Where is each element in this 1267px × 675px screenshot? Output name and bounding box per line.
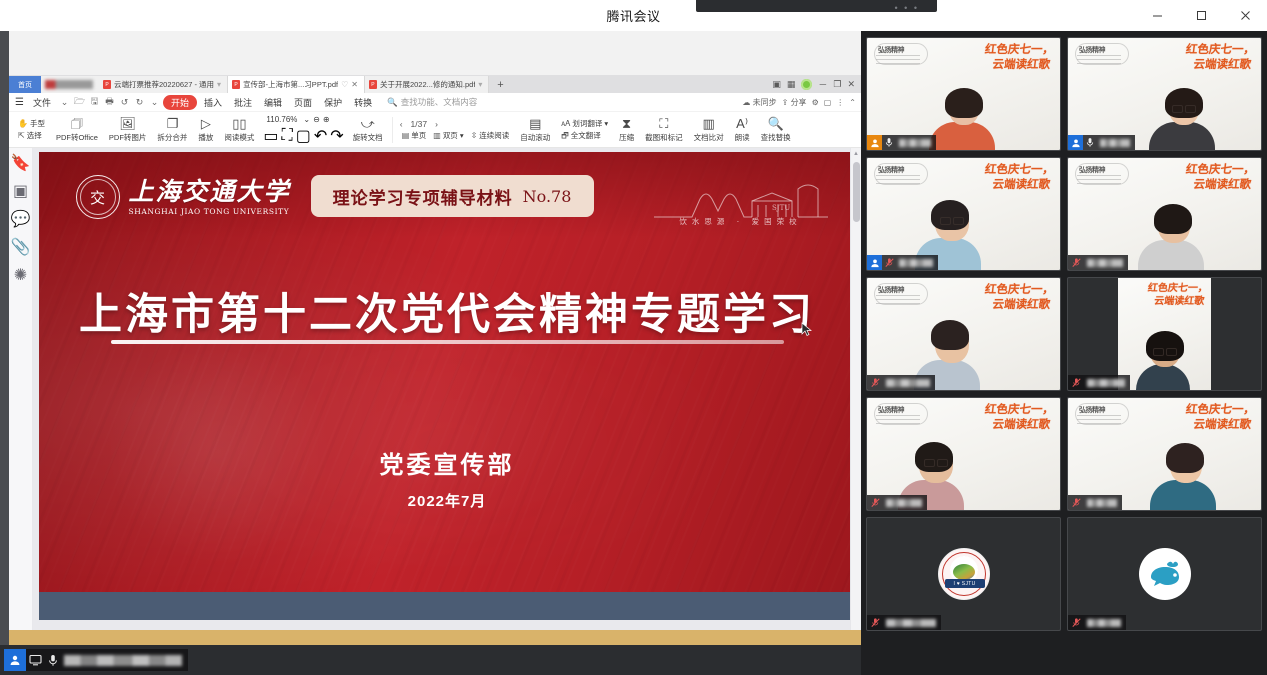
minimize-icon[interactable]	[1135, 0, 1179, 31]
tab-dot-icon: ▾	[217, 80, 221, 89]
window-icon[interactable]: ▢	[824, 98, 832, 107]
participant-video	[1150, 446, 1222, 510]
tab-strip: 首页 P 云端打票推荐20220627 - 通用 ▾ P 宣传部-上海市第...…	[9, 75, 861, 93]
play-icon: ▷	[201, 117, 211, 131]
page-area[interactable]: 上海交通大学 SHANGHAI JIAO TONG UNIVERSITY 理论学…	[33, 148, 861, 641]
more-vertical-icon[interactable]: ⋮	[836, 98, 844, 107]
participant-tile[interactable]: 弘扬精神 红色庆七一，云端读红歌	[866, 277, 1061, 391]
chevron-up-icon[interactable]: ⌃	[849, 98, 856, 107]
whale-avatar	[1139, 548, 1191, 600]
menu-tab-annotate[interactable]: 批注	[229, 95, 257, 110]
participant-tile[interactable]	[1067, 517, 1262, 631]
double-page-button[interactable]: ▥双页▾	[431, 130, 465, 141]
taskbar-edge	[0, 630, 9, 645]
chevron-down-icon[interactable]: ⌄	[58, 96, 71, 109]
fit-controls: ▭ ⛶ ▢ ↶ ↷	[263, 126, 343, 146]
ribbon-group-pages: ‹ 1/37 › ▤单页 ▥双页▾ ⇳连续阅读	[397, 119, 515, 141]
poster-stamp: 弘扬精神	[872, 402, 930, 428]
participant-name-bar	[1068, 135, 1135, 150]
next-page-button[interactable]: ›	[435, 119, 438, 129]
tab-home[interactable]: 首页	[9, 76, 41, 93]
participant-name	[1087, 379, 1125, 387]
pdf-close-icon[interactable]: ✕	[847, 79, 855, 90]
rotate-doc-icon: ⤻	[361, 117, 375, 131]
menu-icon[interactable]: ☰	[13, 97, 26, 108]
background-calligraphy: 红色庆七一，云端读红歌	[1145, 282, 1208, 308]
zoom-out-icon[interactable]: ⊖	[313, 115, 320, 124]
background-calligraphy: 红色庆七一，云端读红歌	[982, 162, 1055, 192]
participant-tile[interactable]: I ♥ SJTU	[866, 517, 1061, 631]
notch-dots: • • •	[895, 3, 919, 13]
participant-tile[interactable]: 弘扬精神 红色庆七一，云端读红歌	[1067, 397, 1262, 511]
poster-stamp: 弘扬精神	[1073, 162, 1131, 188]
read-mode-button[interactable]: ▯▯阅读模式	[219, 117, 259, 143]
participant-tile[interactable]: 红色庆七一，云端读红歌	[1067, 277, 1262, 391]
pdf-to-image-icon: 🖼	[119, 117, 136, 131]
participant-video	[1138, 207, 1210, 270]
hand-tool-button[interactable]: ✋手型	[16, 118, 47, 129]
participant-name	[886, 379, 930, 387]
ribbon-group-translate: 🗚划词翻译▾ 🗗全文翻译	[556, 118, 613, 141]
print-icon[interactable]: 🖶	[103, 96, 116, 109]
participant-name	[886, 499, 922, 507]
sjtu-seal-icon	[76, 175, 120, 219]
single-page-icon: ▤	[402, 130, 410, 141]
poster-stamp: 弘扬精神	[872, 282, 930, 308]
thumbnail-icon[interactable]: ▣	[14, 184, 28, 198]
participant-name	[1087, 259, 1123, 267]
participant-name-bar	[867, 615, 941, 630]
pdf-page-slide: 上海交通大学 SHANGHAI JIAO TONG UNIVERSITY 理论学…	[39, 152, 856, 620]
find-replace-button[interactable]: 🔍查找替换	[756, 117, 796, 143]
participant-tile[interactable]: 弘扬精神 红色庆七一，云端读红歌	[866, 157, 1061, 271]
page-layout-controls: ▤单页 ▥双页▾ ⇳连续阅读	[400, 130, 512, 141]
phrase-translate-button[interactable]: 🗚划词翻译▾	[559, 118, 610, 129]
ribbon-separator	[392, 117, 393, 143]
participant-name-bar	[1068, 495, 1122, 510]
menu-tab-protect[interactable]: 保护	[319, 95, 347, 110]
chevron-down-icon[interactable]: ▾	[604, 118, 608, 129]
self-name-bar	[4, 649, 188, 671]
mic-on-icon	[1083, 135, 1097, 150]
pdf-file-icon: P	[103, 80, 111, 89]
ribbon-group-zoom: 110.76% ⌄ ⊖ ⊕ ▭ ⛶ ▢ ↶ ↷	[260, 114, 346, 146]
participant-name-bar	[867, 135, 936, 150]
hand-icon: ✋	[18, 118, 28, 129]
compare-button[interactable]: ▥文档比对	[689, 117, 729, 143]
poster-stamp: 弘扬精神	[872, 42, 930, 68]
pdf-to-office-button[interactable]: 🗇PDF转Office	[51, 117, 103, 143]
play-button[interactable]: ▷播放	[193, 117, 218, 143]
menu-right-group: ☁ 未同步 ⇪ 分享 ⚙ ▢ ⋮ ⌃	[742, 97, 861, 108]
screen-share-icon	[26, 649, 44, 671]
participant-name-bar	[867, 255, 938, 270]
menu-tab-start[interactable]: 开始	[163, 95, 197, 110]
attachment-icon[interactable]: 📎	[14, 240, 28, 254]
mic-muted-icon	[882, 255, 896, 270]
svg-text:SJTU: SJTU	[772, 204, 790, 212]
mic-muted-icon	[867, 615, 883, 630]
participant-tile[interactable]: 弘扬精神 红色庆七一，云端读红歌	[1067, 37, 1262, 151]
pdf-minimize-icon[interactable]: －	[818, 78, 827, 91]
menu-tab-insert[interactable]: 插入	[199, 95, 227, 110]
participant-name-bar	[867, 495, 927, 510]
comment-icon[interactable]: 💬	[14, 212, 28, 226]
participant-name-bar	[1068, 375, 1130, 390]
participant-tile[interactable]: 弘扬精神 红色庆七一，云端读红歌	[866, 37, 1061, 151]
settings-icon[interactable]: ⚙	[812, 98, 819, 107]
bookmark-icon[interactable]: 🔖	[14, 156, 28, 170]
tab-pin-icon[interactable]: ♡	[341, 80, 348, 89]
tab-doc-3[interactable]: P 关于开展2022...修的通知.pdf ▾	[365, 76, 489, 93]
slide-subtitle: 党委宣传部	[39, 445, 856, 480]
slide-footer-bar	[39, 592, 856, 620]
crop-mark-button[interactable]: ⛶截图和标记	[640, 117, 688, 143]
pdf-reader-window: 首页 P 云端打票推荐20220627 - 通用 ▾ P 宣传部-上海市第...…	[9, 75, 861, 645]
rotate-right-icon[interactable]: ↷	[330, 126, 343, 146]
participant-name	[1087, 619, 1121, 627]
scrollbar-thumb[interactable]	[853, 162, 860, 222]
app-title: 腾讯会议	[606, 6, 660, 25]
double-page-icon: ▥	[433, 130, 441, 141]
search-input[interactable]: 🔍 查找功能、文档内容	[387, 96, 477, 108]
participant-name	[1087, 499, 1117, 507]
read-mode-icon: ▯▯	[232, 117, 246, 131]
tab-dot-icon: ▾	[478, 80, 482, 89]
maximize-icon[interactable]	[1179, 0, 1223, 31]
undo-icon[interactable]: ↺	[118, 96, 131, 109]
host-icon	[4, 649, 26, 671]
open-icon[interactable]: 🗁	[73, 96, 86, 109]
scroll-up-icon[interactable]: ▲	[851, 148, 861, 159]
poster-stamp: 弘扬精神	[1073, 42, 1131, 68]
avatar-ribbon-text: I ♥ SJTU	[945, 579, 985, 588]
campus-skyline-graphic: SJTU	[652, 177, 830, 221]
prev-page-button[interactable]: ‹	[400, 119, 403, 129]
fit-page-icon[interactable]: ⛶	[282, 127, 293, 145]
green-status-icon[interactable]	[801, 79, 812, 90]
mouse-cursor-icon	[801, 322, 812, 337]
close-icon[interactable]	[1223, 0, 1267, 31]
ribbon-toolbar: ✋手型 ⇱选择 🗇PDF转Office 🖼PDF转图片 ❐拆分合并 ▷播放 ▯▯…	[9, 112, 861, 148]
participant-video	[1136, 334, 1194, 390]
shared-screen-stage: 首页 P 云端打票推荐20220627 - 通用 ▾ P 宣传部-上海市第...…	[0, 31, 861, 675]
chevron-down-icon[interactable]: ▾	[460, 130, 464, 141]
continuous-read-button[interactable]: ⇳连续阅读	[469, 130, 512, 141]
background-calligraphy: 红色庆七一，云端读红歌	[982, 42, 1055, 72]
background-calligraphy: 红色庆七一，云端读红歌	[1183, 42, 1256, 72]
compress-icon: ⧗	[622, 117, 631, 131]
split-merge-button[interactable]: ❐拆分合并	[152, 117, 192, 143]
remote-taskbar	[0, 630, 861, 645]
cohost-badge-icon	[1068, 135, 1083, 150]
pdf-to-image-button[interactable]: 🖼PDF转图片	[104, 117, 152, 143]
rotate-document-button[interactable]: ⤻旋转文档	[348, 117, 388, 143]
share-button[interactable]: ⇪ 分享	[782, 97, 807, 108]
search-icon: 🔍	[387, 97, 398, 108]
participant-tile[interactable]: 弘扬精神 红色庆七一，云端读红歌	[866, 397, 1061, 511]
redo-icon[interactable]: ↻	[133, 96, 146, 109]
participant-name	[899, 139, 931, 147]
background-calligraphy: 红色庆七一，云端读红歌	[1183, 402, 1256, 432]
menu-tab-page[interactable]: 页面	[289, 95, 317, 110]
crop-icon: ⛶	[659, 117, 668, 131]
cohost-badge-icon	[867, 255, 882, 270]
tab-doc-2[interactable]: P 宣传部-上海市第...习PPT.pdf ♡ ✕	[228, 76, 365, 93]
chevron-down-icon[interactable]: ⌄	[303, 115, 310, 124]
glasses-icon	[924, 459, 948, 465]
pdf-body: 🔖 ▣ 💬 📎 ✺	[9, 148, 861, 641]
university-motto: 饮水思源 · 爱国荣校	[652, 216, 830, 227]
tab-blurred[interactable]	[41, 76, 99, 93]
blurred-label	[45, 80, 93, 89]
participant-video	[929, 91, 999, 150]
tab-doc-1[interactable]: P 云端打票推荐20220627 - 通用 ▾	[99, 76, 228, 93]
new-tab-button[interactable]: +	[489, 76, 511, 93]
full-translate-icon: 🗗	[561, 130, 569, 141]
left-rail: 🔖 ▣ 💬 📎 ✺	[9, 148, 33, 641]
phrase-translate-icon: 🗚	[561, 118, 570, 129]
auto-scroll-button[interactable]: ▤自动滚动	[515, 117, 555, 143]
background-calligraphy: 红色庆七一，云端读红歌	[982, 402, 1055, 432]
compare-icon: ▥	[702, 117, 714, 131]
read-aloud-button[interactable]: A⁾朗读	[730, 117, 755, 143]
mic-muted-icon	[867, 495, 883, 510]
slide-title: 上海市第十二次党代会精神专题学习	[39, 280, 856, 342]
poster-stamp: 弘扬精神	[872, 162, 930, 188]
find-icon: 🔍	[768, 117, 784, 131]
remote-desktop-edge	[0, 31, 9, 645]
material-badge: 理论学习专项辅导材料 No.78	[311, 175, 594, 217]
poster-stamp: 弘扬精神	[1073, 402, 1131, 428]
participant-name	[1100, 139, 1130, 147]
university-name-cn: 上海交通大学	[129, 178, 291, 205]
material-badge-number: No.78	[523, 187, 572, 206]
mic-muted-icon	[867, 375, 883, 390]
menu-tab-edit[interactable]: 编辑	[259, 95, 287, 110]
save-icon[interactable]: 🖫	[88, 96, 101, 109]
participant-name	[886, 619, 936, 627]
menu-file[interactable]: 文件	[28, 95, 56, 110]
select-tool-button[interactable]: ⇱选择	[16, 130, 47, 141]
participant-grid: 弘扬精神 红色庆七一，云端读红歌 弘扬精神 红色庆七一，云端读红歌	[861, 31, 1267, 675]
participant-video	[1149, 91, 1219, 150]
window-toolbar-right: ▣ ▦ － ❐ ✕	[772, 78, 861, 93]
rotate-left-icon[interactable]: ↶	[314, 126, 327, 146]
participant-name-bar	[867, 375, 935, 390]
split-view-icon[interactable]: ▣	[772, 79, 781, 90]
pdf-file-icon: P	[232, 80, 240, 89]
fit-width-icon[interactable]: ▭	[263, 126, 278, 146]
page-navigator: ‹ 1/37 ›	[400, 119, 512, 129]
material-badge-text: 理论学习专项辅导材料	[333, 184, 513, 209]
glasses-icon	[1153, 348, 1177, 354]
single-page-button[interactable]: ▤单页	[400, 130, 429, 141]
meeting-title-bar: 腾讯会议	[0, 0, 1267, 31]
ribbon-group-tools: ✋手型 ⇱选择	[13, 118, 50, 141]
zoom-control[interactable]: 110.76% ⌄ ⊖ ⊕	[263, 114, 343, 125]
participant-name	[899, 259, 933, 267]
mic-muted-icon	[1068, 495, 1084, 510]
read-aloud-icon: A⁾	[736, 117, 748, 131]
pdf-file-icon: P	[369, 80, 377, 89]
slide-date: 2022年7月	[39, 490, 856, 511]
more-icon[interactable]: ⌄	[148, 96, 161, 109]
stamp-icon[interactable]: ✺	[14, 268, 28, 282]
compress-button[interactable]: ⧗压缩	[614, 117, 639, 143]
cloud-sync-status[interactable]: ☁ 未同步	[742, 97, 776, 108]
auto-scroll-icon: ▤	[529, 117, 541, 131]
glasses-icon	[1172, 105, 1196, 111]
vertical-scrollbar[interactable]: ▲ ▼	[850, 148, 861, 641]
participant-tile[interactable]: 弘扬精神 红色庆七一，云端读红歌	[1067, 157, 1262, 271]
background-calligraphy: 红色庆七一，云端读红歌	[982, 282, 1055, 312]
mic-on-icon	[882, 135, 896, 150]
full-translate-button[interactable]: 🗗全文翻译	[559, 130, 610, 141]
mic-icon	[44, 649, 62, 671]
pdf-restore-icon[interactable]: ❐	[833, 79, 841, 90]
zoom-in-icon[interactable]: ⊕	[323, 115, 330, 124]
window-controls	[1135, 0, 1267, 31]
pdf-to-office-icon: 🗇	[71, 117, 83, 131]
menu-tab-convert[interactable]: 转换	[349, 95, 377, 110]
title-underline	[111, 340, 784, 344]
mic-muted-icon	[1068, 255, 1084, 270]
tab-close-icon[interactable]: ✕	[351, 80, 358, 89]
host-badge-icon	[867, 135, 882, 150]
university-name-en: SHANGHAI JIAO TONG UNIVERSITY	[129, 207, 291, 216]
grid-view-icon[interactable]: ▦	[787, 79, 796, 90]
menu-bar: ☰ 文件 ⌄ 🗁 🖫 🖶 ↺ ↻ ⌄ 开始 插入 批注 编辑 页面 保护 转换	[9, 93, 861, 112]
university-logo: 上海交通大学 SHANGHAI JIAO TONG UNIVERSITY	[76, 175, 291, 219]
participant-name-bar	[1068, 255, 1128, 270]
page-indicator: 1/37	[411, 119, 428, 129]
mic-muted-icon	[1068, 615, 1084, 630]
cursor-icon: ⇱	[18, 130, 25, 141]
glasses-icon	[940, 217, 964, 223]
sjtu-seal-avatar: I ♥ SJTU	[938, 548, 990, 600]
meeting-notch: • • •	[696, 0, 937, 12]
zoom-value[interactable]: 110.76%	[263, 114, 300, 125]
whale-icon	[1145, 559, 1185, 589]
actual-size-icon[interactable]: ▢	[296, 126, 311, 146]
continuous-icon: ⇳	[471, 130, 478, 141]
shared-screen-content: 首页 P 云端打票推荐20220627 - 通用 ▾ P 宣传部-上海市第...…	[0, 31, 861, 645]
mic-muted-icon	[1068, 375, 1084, 390]
participant-name-bar	[1068, 615, 1126, 630]
self-name-label	[64, 655, 182, 666]
split-merge-icon: ❐	[167, 117, 179, 131]
background-calligraphy: 红色庆七一，云端读红歌	[1183, 162, 1256, 192]
